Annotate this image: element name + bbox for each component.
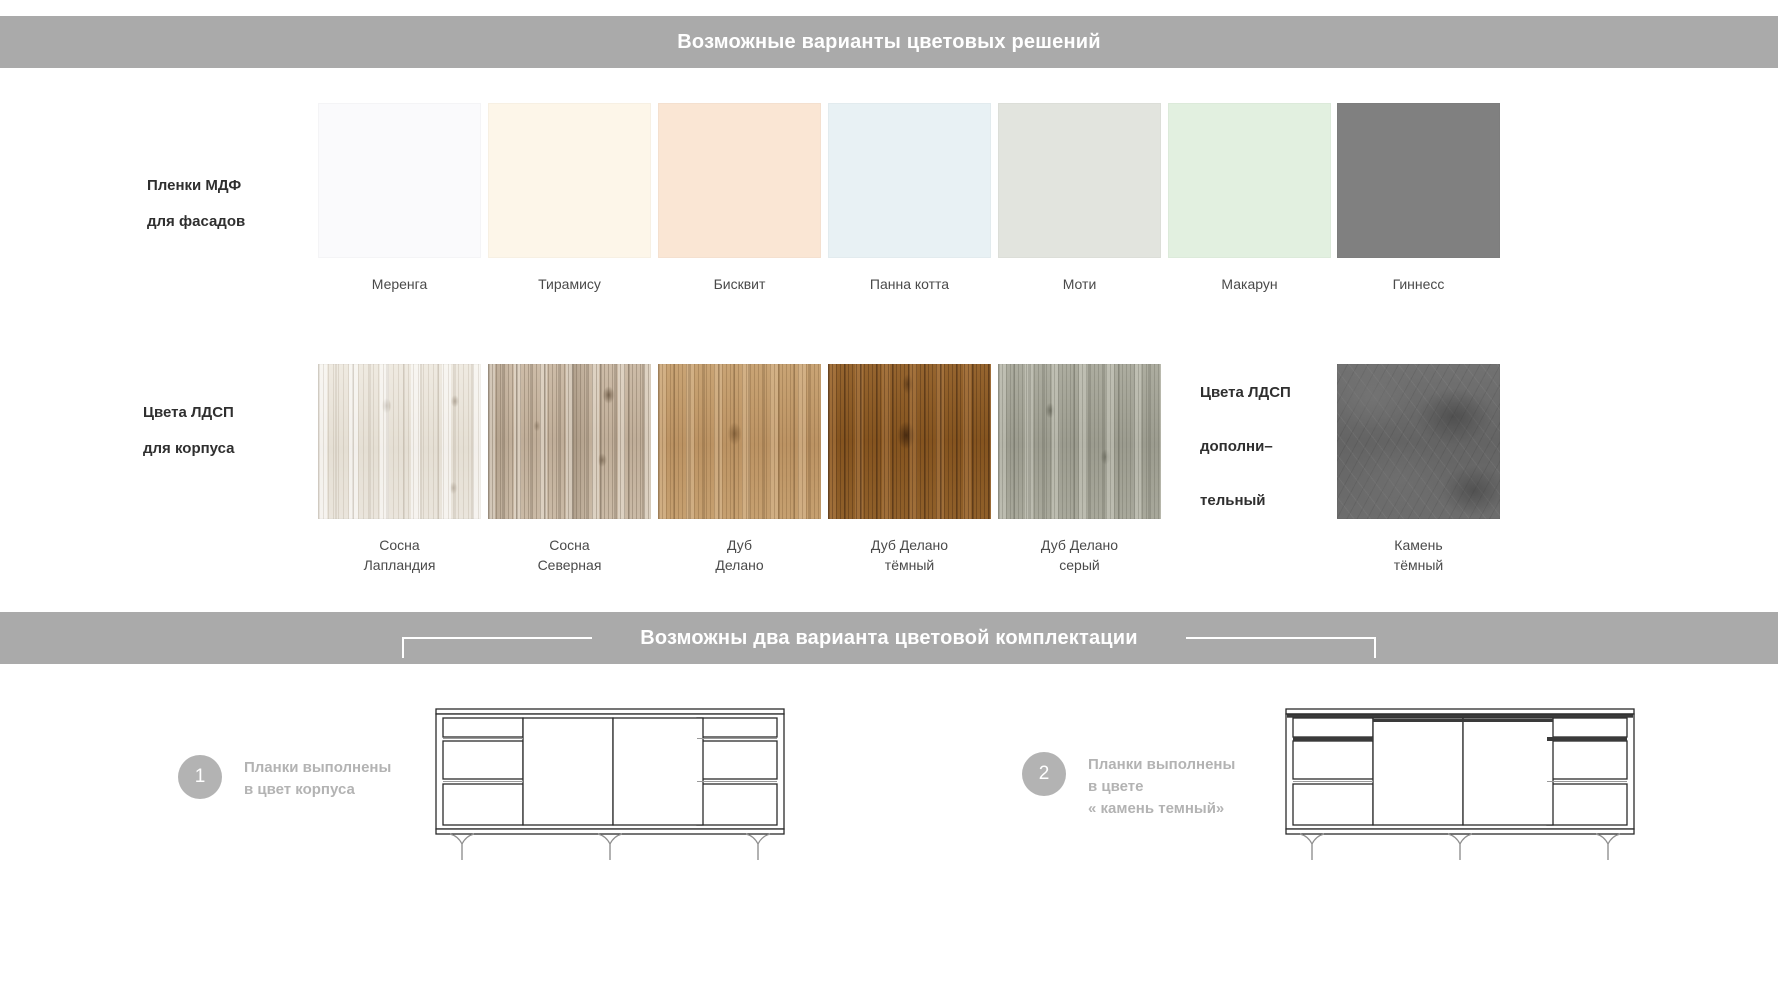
- ldsp-extra-label-line3: тельный: [1200, 483, 1291, 519]
- swatch-label-merenga: Меренга: [318, 274, 481, 294]
- top-banner-title: Возможные варианты цветовых решений: [677, 31, 1100, 54]
- ldsp-row-label: Цвета ЛДСП для корпуса: [143, 395, 235, 467]
- swatch-label-dub-delano-seryy: Дуб Делано серый: [998, 535, 1161, 575]
- swatch-cell-panna-kotta[interactable]: Панна котта: [828, 103, 991, 294]
- swatch-label-sosna-severnaya: Сосна Северная: [488, 535, 651, 575]
- swatch-cell-dub-delano[interactable]: Дуб Делано: [658, 364, 821, 575]
- option-1-badge: 1: [178, 755, 222, 799]
- swatch-color-moti[interactable]: [998, 103, 1161, 258]
- swatch-cell-makarun[interactable]: Макарун: [1168, 103, 1331, 294]
- swatch-cell-kamen-tyomnyy[interactable]: Камень тёмный: [1337, 364, 1500, 575]
- option-2[interactable]: 2 Планки выполнены в цвете « камень темн…: [1022, 752, 1235, 820]
- ldsp-extra-label-line2: дополни–: [1200, 429, 1291, 465]
- swatch-cell-ginness[interactable]: Гиннесс: [1337, 103, 1500, 294]
- swatch-texture-dub-delano-seryy[interactable]: [998, 364, 1161, 519]
- swatch-color-makarun[interactable]: [1168, 103, 1331, 258]
- ldsp-row-label-line2: для корпуса: [143, 431, 235, 467]
- swatch-color-tiramisu[interactable]: [488, 103, 651, 258]
- swatch-label-dub-delano-tyomnyy: Дуб Делано тёмный: [828, 535, 991, 575]
- swatch-texture-kamen-tyomnyy[interactable]: [1337, 364, 1500, 519]
- swatch-label-kamen-tyomnyy: Камень тёмный: [1337, 535, 1500, 575]
- swatch-label-dub-delano: Дуб Делано: [658, 535, 821, 575]
- swatch-cell-tiramisu[interactable]: Тирамису: [488, 103, 651, 294]
- swatch-cell-sosna-severnaya[interactable]: Сосна Северная: [488, 364, 651, 575]
- sideboard-drawing-option-1: [430, 700, 790, 865]
- ldsp-extra-label-line1: Цвета ЛДСП: [1200, 375, 1291, 411]
- swatch-color-biskvit[interactable]: [658, 103, 821, 258]
- swatch-cell-moti[interactable]: Моти: [998, 103, 1161, 294]
- option-1[interactable]: 1 Планки выполнены в цвет корпуса: [178, 755, 391, 801]
- swatch-color-panna-kotta[interactable]: [828, 103, 991, 258]
- swatch-texture-dub-delano-tyomnyy[interactable]: [828, 364, 991, 519]
- ldsp-extra-label: Цвета ЛДСП дополни– тельный: [1200, 375, 1291, 519]
- bracket-right-decoration: [1186, 612, 1376, 664]
- mdf-row-label: Пленки МДФ для фасадов: [147, 168, 245, 240]
- swatch-cell-biskvit[interactable]: Бисквит: [658, 103, 821, 294]
- swatch-label-moti: Моти: [998, 274, 1161, 294]
- swatch-label-tiramisu: Тирамису: [488, 274, 651, 294]
- swatch-texture-sosna-severnaya[interactable]: [488, 364, 651, 519]
- swatch-cell-dub-delano-tyomnyy[interactable]: Дуб Делано тёмный: [828, 364, 991, 575]
- swatch-label-sosna-laplandiya: Сосна Лапландия: [318, 535, 481, 575]
- mdf-row-label-line2: для фасадов: [147, 204, 245, 240]
- ldsp-row-label-line1: Цвета ЛДСП: [143, 395, 235, 431]
- swatch-label-ginness: Гиннесс: [1337, 274, 1500, 294]
- sideboard-drawing-option-2: [1280, 700, 1640, 865]
- swatch-cell-merenga[interactable]: Меренга: [318, 103, 481, 294]
- mdf-row-label-line1: Пленки МДФ: [147, 168, 245, 204]
- bracket-left-decoration: [402, 612, 592, 664]
- swatch-label-biskvit: Бисквит: [658, 274, 821, 294]
- swatch-label-makarun: Макарун: [1168, 274, 1331, 294]
- swatch-cell-sosna-laplandiya[interactable]: Сосна Лапландия: [318, 364, 481, 575]
- option-2-badge: 2: [1022, 752, 1066, 796]
- swatch-label-panna-kotta: Панна котта: [828, 274, 991, 294]
- swatch-texture-sosna-laplandiya[interactable]: [318, 364, 481, 519]
- option-1-text: Планки выполнены в цвет корпуса: [244, 755, 391, 801]
- swatch-color-ginness[interactable]: [1337, 103, 1500, 258]
- swatch-cell-dub-delano-seryy[interactable]: Дуб Делано серый: [998, 364, 1161, 575]
- bottom-banner-title: Возможны два варианта цветовой комплекта…: [640, 627, 1138, 650]
- bottom-banner: Возможны два варианта цветовой комплекта…: [0, 612, 1778, 664]
- swatch-texture-dub-delano[interactable]: [658, 364, 821, 519]
- top-banner: Возможные варианты цветовых решений: [0, 16, 1778, 68]
- option-2-text: Планки выполнены в цвете « камень темный…: [1088, 752, 1235, 820]
- swatch-color-merenga[interactable]: [318, 103, 481, 258]
